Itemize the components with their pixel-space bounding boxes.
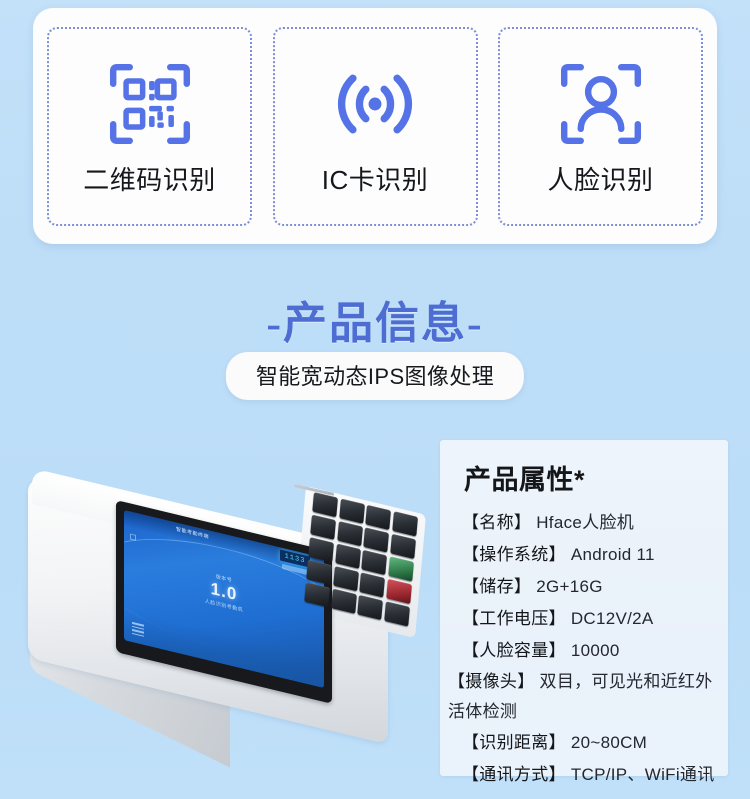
product-photo: 智能考勤终端 1133 版本号 1.0 人脸识别考勤机 xyxy=(18,448,428,728)
keypad-key[interactable] xyxy=(337,521,363,547)
spec-key: 【识别距离】 xyxy=(462,733,566,752)
section-title: -产品信息- xyxy=(0,287,750,351)
keypad-key[interactable] xyxy=(339,498,365,524)
keypad-key[interactable] xyxy=(359,572,385,598)
feature-item-face[interactable]: 人脸识别 xyxy=(498,27,703,226)
keypad-key-enter[interactable] xyxy=(388,556,414,582)
feature-label: 人脸识别 xyxy=(547,160,653,197)
spec-row: 【工作电压】 DC12V/2A xyxy=(462,603,728,635)
screen-indicator-dots xyxy=(132,622,144,637)
keypad-key[interactable] xyxy=(335,543,361,569)
device-illustration: 智能考勤终端 1133 版本号 1.0 人脸识别考勤机 xyxy=(18,448,428,708)
keypad-key[interactable] xyxy=(308,537,334,563)
spec-row: 【储存】 2G+16G xyxy=(462,571,728,603)
spec-row: 【摄像头】 双目，可见光和近红外活体检测 xyxy=(448,667,728,727)
spec-panel: 产品属性* 【名称】 Hface人脸机 【操作系统】 Android 11 【储… xyxy=(440,440,728,776)
spec-key: 【通讯方式】 xyxy=(462,765,566,784)
section-subtitle-pill: 智能宽动态IPS图像处理 xyxy=(226,352,524,400)
spec-list: 【名称】 Hface人脸机 【操作系统】 Android 11 【储存】 2G+… xyxy=(462,507,728,791)
spec-row: 【识别距离】 20~80CM xyxy=(462,727,728,759)
spec-value: 20~80CM xyxy=(571,733,647,752)
spec-key: 【人脸容量】 xyxy=(462,641,566,660)
keypad-key[interactable] xyxy=(312,492,338,518)
keypad-key[interactable] xyxy=(390,534,416,560)
spec-panel-title: 产品属性* xyxy=(464,458,728,497)
feature-item-qr[interactable]: 二维码识别 xyxy=(47,27,252,226)
spec-row: 【人脸容量】 10000 xyxy=(462,635,728,667)
spec-value: Hface人脸机 xyxy=(536,513,634,532)
keypad-key[interactable] xyxy=(306,559,332,585)
screen-corner-mark xyxy=(130,533,136,540)
keypad-key[interactable] xyxy=(361,550,387,576)
face-scan-icon xyxy=(553,56,649,152)
spec-key: 【名称】 xyxy=(462,513,531,532)
keypad-key[interactable] xyxy=(333,566,359,592)
spec-value: 2G+16G xyxy=(536,577,603,596)
feature-label: 二维码识别 xyxy=(83,160,216,197)
spec-value: Android 11 xyxy=(571,545,655,564)
spec-row: 【操作系统】 Android 11 xyxy=(462,539,728,571)
spec-key: 【操作系统】 xyxy=(462,545,566,564)
keypad-key[interactable] xyxy=(363,527,389,553)
spec-value: DC12V/2A xyxy=(571,609,654,628)
spec-value: 10000 xyxy=(571,641,620,660)
feature-label: IC卡识别 xyxy=(322,160,429,197)
spec-key: 【工作电压】 xyxy=(462,609,566,628)
spec-value: TCP/IP、WiFi通讯 xyxy=(571,765,715,784)
page-background: 二维码识别 IC卡识别 xyxy=(0,0,750,799)
spec-row: 【名称】 Hface人脸机 xyxy=(462,507,728,539)
spec-key: 【摄像头】 xyxy=(448,672,535,691)
keypad-key[interactable] xyxy=(310,514,336,540)
keypad-key-cancel[interactable] xyxy=(386,578,412,604)
spec-row: 【通讯方式】 TCP/IP、WiFi通讯 xyxy=(462,759,728,791)
rfid-wave-icon xyxy=(327,56,423,152)
feature-card: 二维码识别 IC卡识别 xyxy=(33,8,717,244)
spec-key: 【储存】 xyxy=(462,577,531,596)
qr-code-scan-icon xyxy=(102,56,198,152)
feature-item-ic-card[interactable]: IC卡识别 xyxy=(273,27,478,226)
